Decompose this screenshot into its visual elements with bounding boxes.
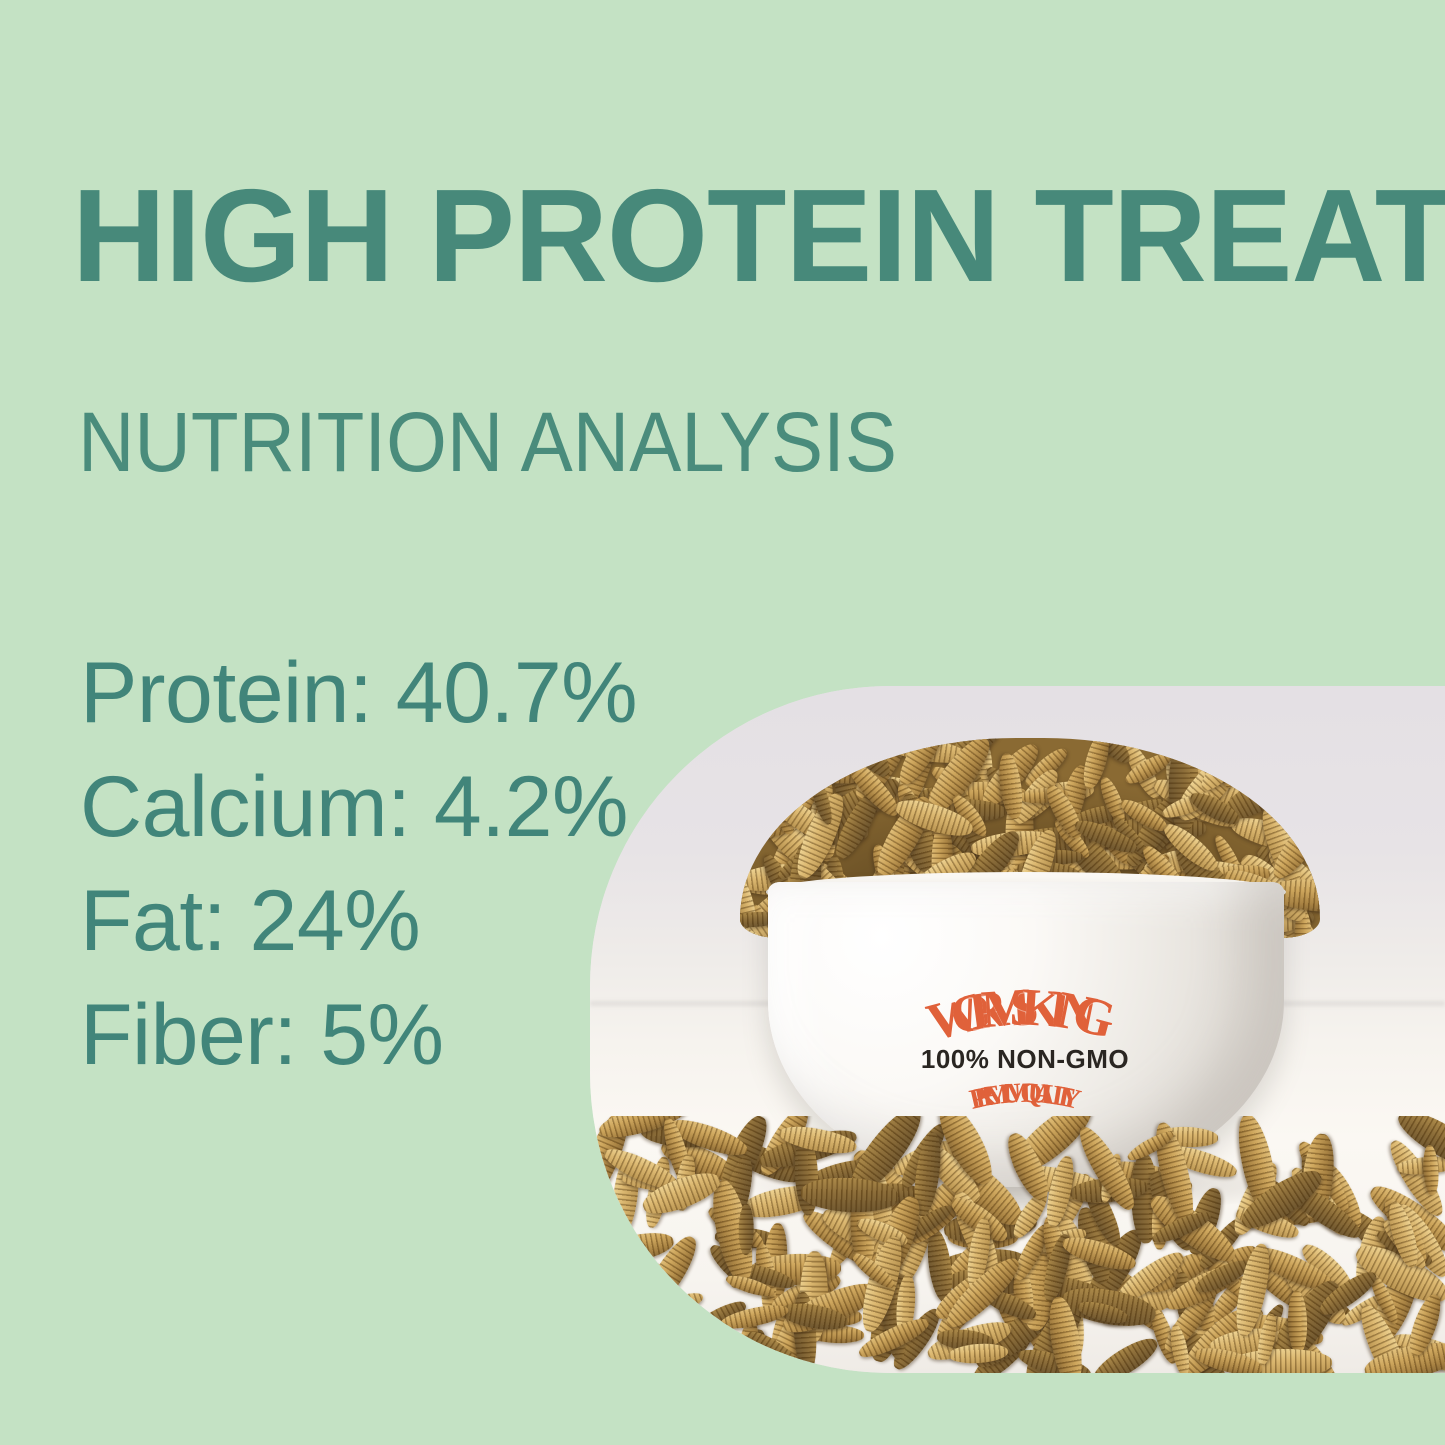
page-title: HIGH PROTEIN TREATS [72,170,1382,302]
larva [1088,1332,1163,1373]
product-photo: WORMSKING 100% NON-GMO PREMIUM QUALITY [590,686,1445,1373]
scattered-larvae [590,1116,1445,1373]
product-infographic: HIGH PROTEIN TREATS NUTRITION ANALYSIS P… [0,0,1445,1445]
section-subtitle: NUTRITION ANALYSIS [78,400,897,484]
